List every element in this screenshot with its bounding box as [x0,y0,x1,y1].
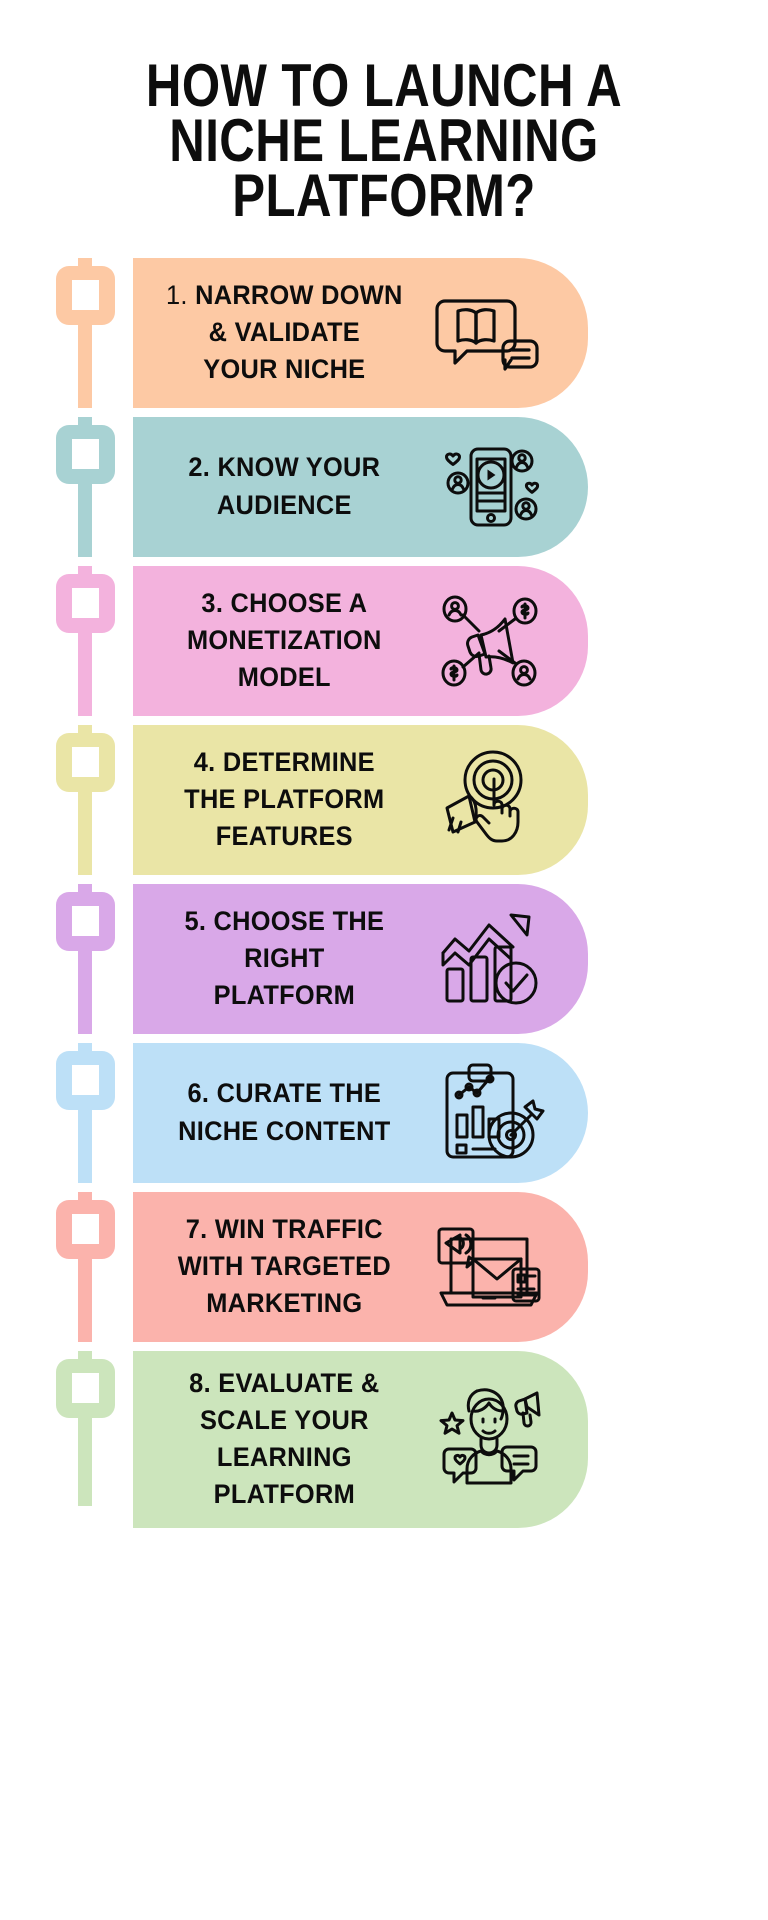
timeline-rail-6 [0,1043,133,1183]
timeline-marker-center-7 [72,1214,99,1244]
step-item-1[interactable]: 1. NARROW DOWN & VALIDATE YOUR NICHE [0,258,768,408]
step-label-7: 7. WIN TRAFFIC WITH TARGETED MARKETING [142,1211,421,1323]
step-line-3-3: MODEL [238,662,331,692]
step-card-5[interactable]: 5. CHOOSE THE RIGHT PLATFORM [133,884,588,1034]
step-item-6[interactable]: 6. CURATE THE NICHE CONTENT [0,1043,768,1183]
step-number-6: 6. [188,1078,210,1108]
step-line-1-2: & VALIDATE [209,317,360,347]
timeline-marker-7[interactable] [56,1200,115,1259]
step-number-5: 5. [184,906,206,936]
step-line-4-3: FEATURES [216,821,353,851]
timeline-rail-7 [0,1192,133,1342]
step-label-8: 8. EVALUATE & SCALE YOUR LEARNING PLATFO… [142,1365,421,1514]
step-line-4-2: THE PLATFORM [184,784,384,814]
step-line-5-3: PLATFORM [214,980,355,1010]
page-title-line-2: NICHE LEARNING [102,113,666,168]
step-card-7[interactable]: 7. WIN TRAFFIC WITH TARGETED MARKETING [133,1192,588,1342]
step-card-4[interactable]: 4. DETERMINE THE PLATFORM FEATURES [133,725,588,875]
timeline-marker-center-3 [72,588,99,618]
step-label-6: 6. CURATE THE NICHE CONTENT [142,1075,421,1150]
step-line-6-2: NICHE CONTENT [178,1116,390,1146]
step-label-5: 5. CHOOSE THE RIGHT PLATFORM [142,903,421,1015]
timeline-rail-8 [0,1351,133,1528]
step-line-7-2: WITH TARGETED [178,1251,391,1281]
timeline-marker-3[interactable] [56,574,115,633]
step-line-6-1: CURATE THE [217,1078,382,1108]
step-card-6[interactable]: 6. CURATE THE NICHE CONTENT [133,1043,588,1183]
step-number-2: 2. [188,452,210,482]
step-label-3: 3. CHOOSE A MONETIZATION MODEL [142,585,421,697]
timeline-rail-2 [0,417,133,557]
book-speech-bubble-icon [430,277,548,389]
clipboard-target-icon [430,1057,548,1169]
timeline-rail-4 [0,725,133,875]
timeline-rail-5 [0,884,133,1034]
step-line-5-1: CHOOSE THE [214,906,385,936]
step-card-2[interactable]: 2. KNOW YOUR AUDIENCE [133,417,588,557]
mobile-video-audience-icon [430,431,548,543]
megaphone-money-network-icon [430,585,548,697]
step-item-2[interactable]: 2. KNOW YOUR AUDIENCE [0,417,768,557]
page-title-line-3: PLATFORM? [102,168,666,223]
step-line-7-3: MARKETING [206,1288,362,1318]
step-line-3-2: MONETIZATION [187,625,382,655]
timeline-rail-3 [0,566,133,716]
timeline-marker-5[interactable] [56,892,115,951]
step-line-8-3: LEARNING PLATFORM [214,1442,355,1509]
timeline-marker-4[interactable] [56,733,115,792]
timeline-marker-1[interactable] [56,266,115,325]
growth-chart-check-icon [430,903,548,1015]
step-line-2-2: AUDIENCE [217,490,352,520]
step-item-8[interactable]: 8. EVALUATE & SCALE YOUR LEARNING PLATFO… [0,1351,768,1528]
step-item-5[interactable]: 5. CHOOSE THE RIGHT PLATFORM [0,884,768,1034]
step-item-4[interactable]: 4. DETERMINE THE PLATFORM FEATURES [0,725,768,875]
target-click-hand-icon [430,744,548,856]
timeline-rail-1 [0,258,133,408]
steps-timeline: 1. NARROW DOWN & VALIDATE YOUR NICHE [0,258,768,1528]
timeline-marker-2[interactable] [56,425,115,484]
step-line-3-1: CHOOSE A [231,588,368,618]
step-line-8-1: EVALUATE & [218,1368,379,1398]
timeline-marker-center-6 [72,1065,99,1095]
timeline-marker-center-1 [72,280,99,310]
step-number-4: 4. [194,747,216,777]
step-line-1-1: NARROW DOWN [195,280,403,310]
step-card-1[interactable]: 1. NARROW DOWN & VALIDATE YOUR NICHE [133,258,588,408]
timeline-marker-center-4 [72,747,99,777]
page-title: HOW TO LAUNCH A NICHE LEARNING PLATFORM? [0,0,768,224]
step-card-8[interactable]: 8. EVALUATE & SCALE YOUR LEARNING PLATFO… [133,1351,588,1528]
person-feedback-star-icon [430,1383,548,1495]
timeline-marker-8[interactable] [56,1359,115,1418]
step-card-3[interactable]: 3. CHOOSE A MONETIZATION MODEL [133,566,588,716]
step-number-7: 7. [186,1214,208,1244]
step-line-7-1: WIN TRAFFIC [215,1214,383,1244]
timeline-marker-center-8 [72,1373,99,1403]
timeline-marker-6[interactable] [56,1051,115,1110]
step-line-1-3: YOUR NICHE [203,354,365,384]
step-item-3[interactable]: 3. CHOOSE A MONETIZATION MODEL [0,566,768,716]
page-title-line-1: HOW TO LAUNCH A [102,58,666,113]
laptop-email-megaphone-icon [430,1211,548,1323]
step-label-2: 2. KNOW YOUR AUDIENCE [142,449,421,524]
step-item-7[interactable]: 7. WIN TRAFFIC WITH TARGETED MARKETING [0,1192,768,1342]
step-line-2-1: KNOW YOUR [217,452,380,482]
step-number-1: 1. [166,280,188,310]
step-label-1: 1. NARROW DOWN & VALIDATE YOUR NICHE [142,277,421,389]
step-number-3: 3. [201,588,223,618]
timeline-marker-center-5 [72,906,99,936]
step-line-4-1: DETERMINE [223,747,375,777]
timeline-marker-center-2 [72,439,99,469]
step-number-8: 8. [189,1368,211,1398]
step-label-4: 4. DETERMINE THE PLATFORM FEATURES [142,744,421,856]
step-line-8-2: SCALE YOUR [200,1405,369,1435]
step-line-5-2: RIGHT [244,943,324,973]
